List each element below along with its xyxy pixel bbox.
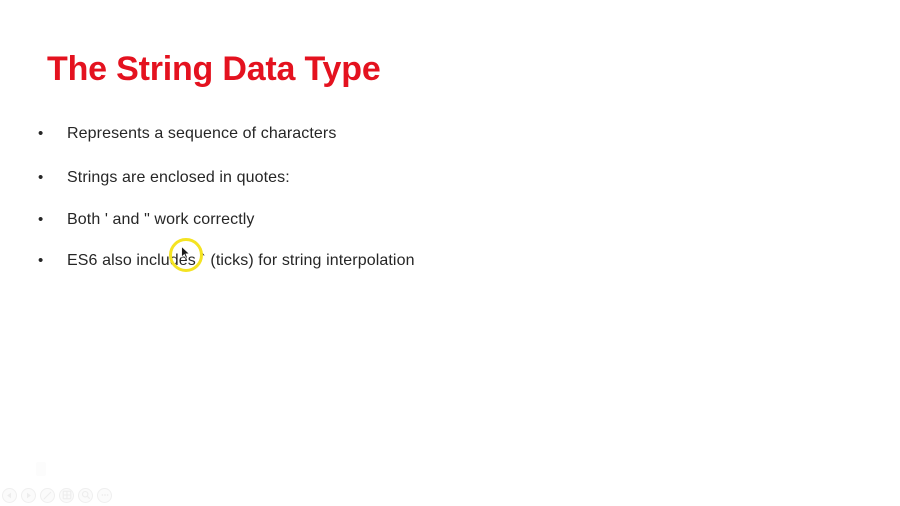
list-item: • Strings are enclosed in quotes: — [38, 170, 290, 192]
zoom-button[interactable] — [78, 488, 93, 503]
grid-slides-icon — [62, 490, 72, 500]
faint-artifact — [36, 462, 46, 476]
list-item: • Represents a sequence of characters — [38, 126, 336, 148]
bullet-marker-icon: • — [38, 253, 67, 268]
list-item-label: Strings are enclosed in quotes: — [67, 170, 290, 186]
ellipsis-icon — [100, 490, 110, 500]
triangle-right-icon — [24, 491, 33, 500]
pen-icon — [42, 490, 53, 501]
bullet-marker-icon: • — [38, 126, 67, 141]
bullet-marker-icon: • — [38, 170, 67, 185]
all-slides-button[interactable] — [59, 488, 74, 503]
triangle-left-icon — [5, 491, 14, 500]
list-item-label: Both ' and " work correctly — [67, 212, 255, 228]
more-options-button[interactable] — [97, 488, 112, 503]
list-item: • Both ' and " work correctly — [38, 212, 255, 234]
slide-title: The String Data Type — [47, 50, 381, 89]
next-slide-button[interactable] — [21, 488, 36, 503]
magnifier-icon — [81, 490, 91, 500]
previous-slide-button[interactable] — [2, 488, 17, 503]
pen-tool-button[interactable] — [40, 488, 55, 503]
presentation-slide: The String Data Type • Represents a sequ… — [0, 0, 900, 506]
presentation-control-bar[interactable] — [2, 486, 112, 504]
bullet-marker-icon: • — [38, 212, 67, 227]
list-item: • ES6 also includes ` (ticks) for string… — [38, 253, 415, 275]
list-item-label: ES6 also includes ` (ticks) for string i… — [67, 253, 415, 269]
list-item-label: Represents a sequence of characters — [67, 126, 336, 142]
